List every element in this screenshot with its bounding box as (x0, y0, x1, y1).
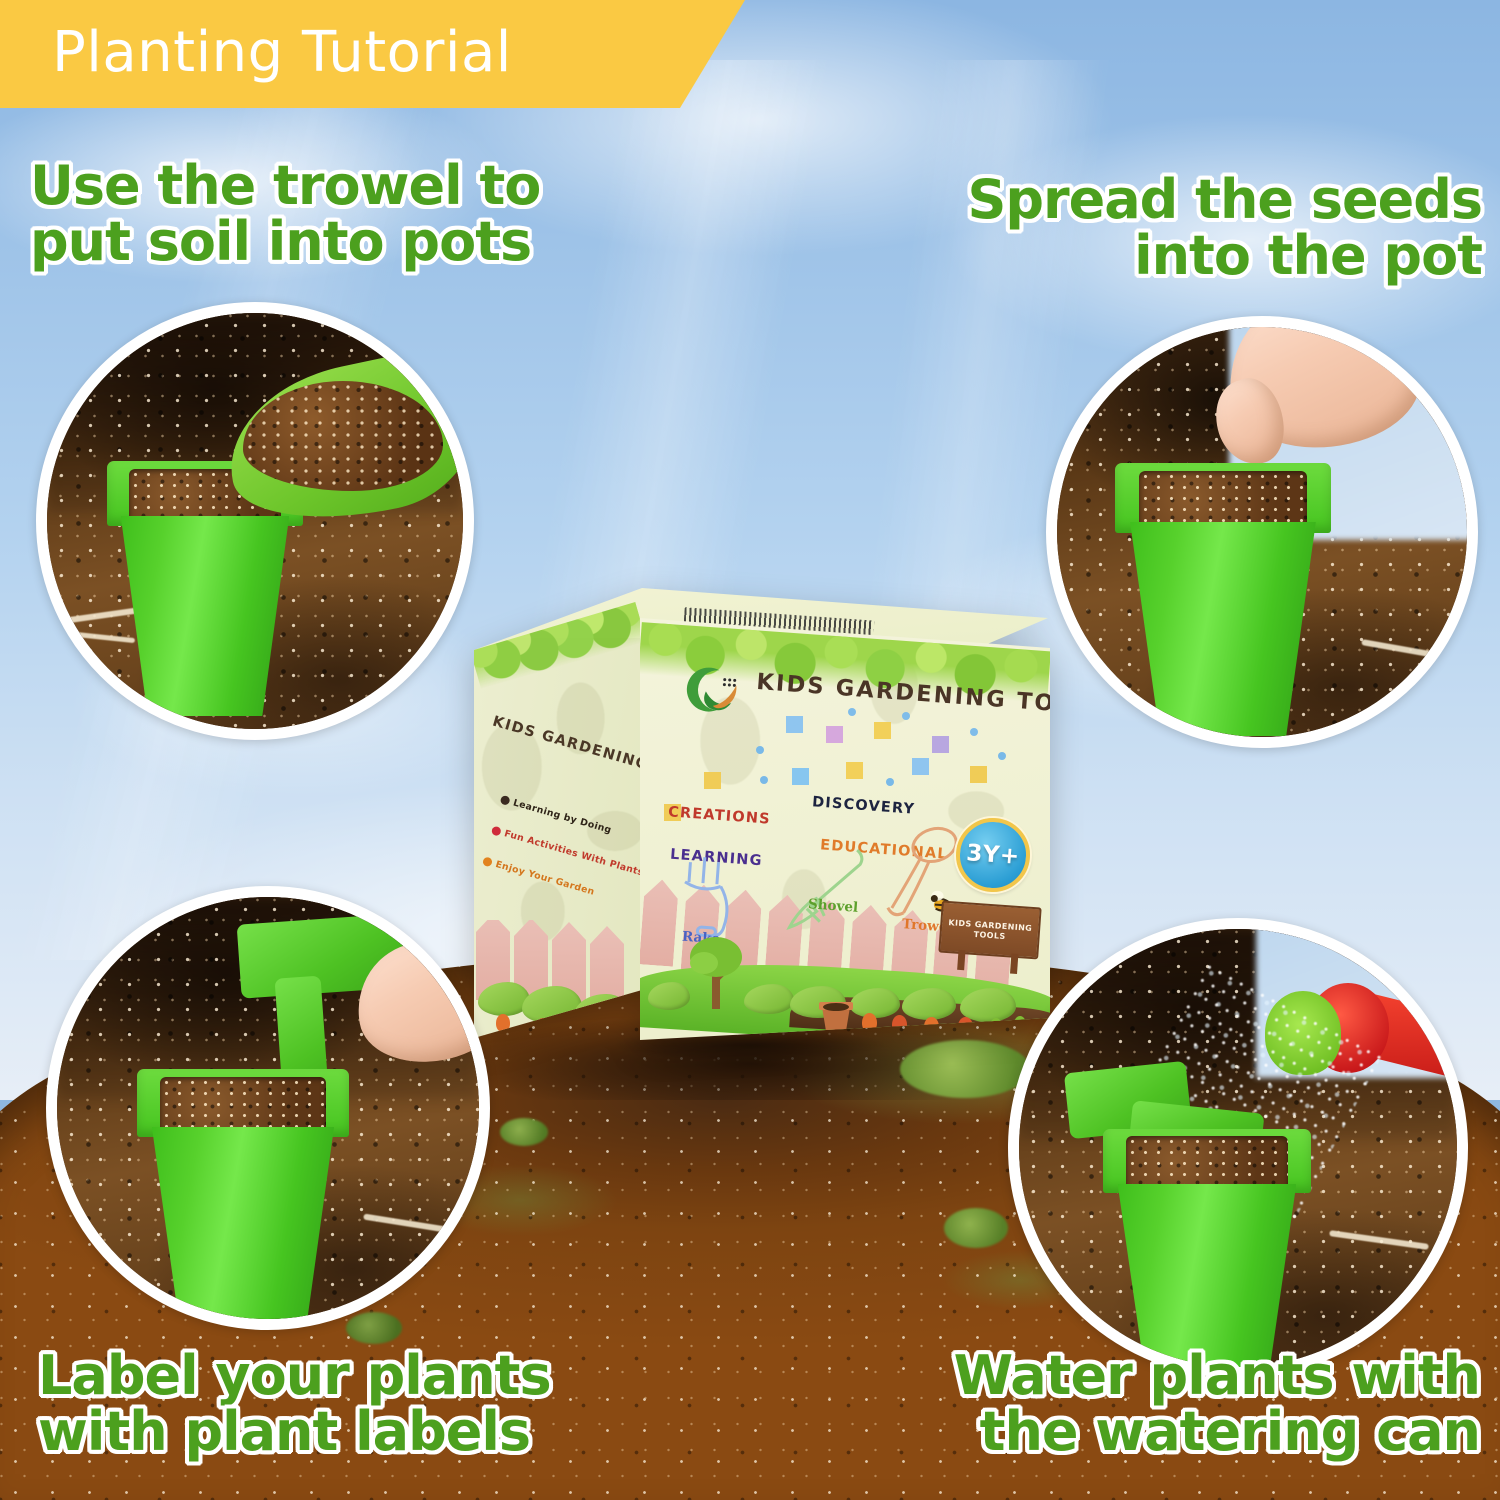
moss-patch (944, 1208, 1008, 1248)
bullet-dot-icon (491, 826, 502, 837)
box-side-face: KIDS GARDENING TOOLS Learning by Doing F… (474, 638, 646, 1040)
caption-bottom-left: Label your plantswith plant labels (38, 1348, 658, 1460)
pot-body (152, 1127, 334, 1330)
page-title: Planting Tutorial (0, 20, 512, 85)
box-front-face: KIDS GARDENING TOOLS (640, 600, 1050, 1040)
step-photo-bottom-left (46, 886, 490, 1330)
brand-logo-icon (682, 660, 748, 720)
leaf-clump (648, 982, 690, 1010)
pot-body (121, 516, 290, 716)
vegetable (862, 1013, 877, 1032)
vegetable (958, 1017, 973, 1036)
plant-pot (1115, 463, 1331, 731)
leaf-clump (744, 984, 794, 1014)
bullet-dot-icon (482, 856, 493, 867)
feature-label: Enjoy Your Garden (494, 859, 596, 898)
sprout (990, 1018, 1002, 1034)
vegetable (496, 1014, 510, 1032)
plant-pot (1103, 1129, 1311, 1377)
flower-pot-icon (816, 997, 856, 1038)
tree-icon (684, 935, 748, 1014)
leaf-clump (902, 988, 956, 1020)
moss-patch (500, 1118, 548, 1146)
step-photo-bottom-right (1008, 918, 1468, 1378)
caption-top-left: Use the trowel toput soil into pots (30, 158, 650, 270)
box-garden-art (640, 928, 1050, 1040)
header-banner: Planting Tutorial (0, 0, 745, 108)
caption-bottom-right: Water plants withthe watering can (860, 1348, 1480, 1460)
vegetable (892, 1015, 907, 1034)
bullet-dot-icon (500, 795, 511, 806)
plant-pot (137, 1069, 349, 1330)
caption-top-right: Spread the seedsinto the pot (882, 172, 1482, 284)
leaf-clump (850, 988, 900, 1018)
product-box: KIDS GARDENING TOOLS Learning by Doing F… (466, 588, 1056, 1040)
vegetable (586, 1020, 600, 1038)
box-side-garden-art (474, 920, 646, 1040)
step-photo-top-right (1046, 316, 1478, 748)
age-badge-label: 3Y+ (965, 840, 1020, 870)
pot-body (1130, 522, 1316, 736)
vegetable (924, 1017, 939, 1036)
step-photo-top-left (36, 302, 474, 740)
vegetable (536, 1018, 550, 1036)
